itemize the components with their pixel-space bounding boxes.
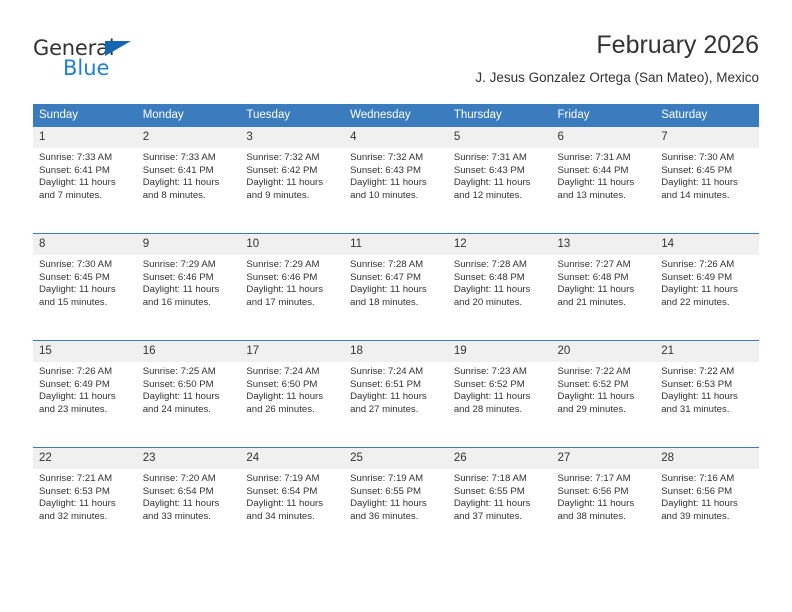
sunset-time: Sunset: 6:46 PM xyxy=(143,272,236,285)
sunset-time: Sunset: 6:56 PM xyxy=(661,486,754,499)
day-details: Sunrise: 7:20 AMSunset: 6:54 PMDaylight:… xyxy=(137,469,241,523)
calendar-day-cell[interactable]: 26Sunrise: 7:18 AMSunset: 6:55 PMDayligh… xyxy=(448,448,552,555)
calendar-day-cell[interactable]: 11Sunrise: 7:28 AMSunset: 6:47 PMDayligh… xyxy=(344,234,448,341)
calendar-day-cell[interactable]: 14Sunrise: 7:26 AMSunset: 6:49 PMDayligh… xyxy=(655,234,759,341)
daylight-duration: Daylight: 11 hours and 15 minutes. xyxy=(39,284,132,309)
day-details: Sunrise: 7:26 AMSunset: 6:49 PMDaylight:… xyxy=(33,362,137,416)
logo-triangle-icon xyxy=(105,41,131,56)
day-number: 25 xyxy=(344,448,448,469)
day-number: 8 xyxy=(33,234,137,255)
day-number: 22 xyxy=(33,448,137,469)
day-details: Sunrise: 7:19 AMSunset: 6:54 PMDaylight:… xyxy=(240,469,344,523)
sunset-time: Sunset: 6:53 PM xyxy=(39,486,132,499)
day-number: 14 xyxy=(655,234,759,255)
sunrise-time: Sunrise: 7:16 AM xyxy=(661,473,754,486)
calendar-day-cell[interactable]: 8Sunrise: 7:30 AMSunset: 6:45 PMDaylight… xyxy=(33,234,137,341)
sunset-time: Sunset: 6:47 PM xyxy=(350,272,443,285)
day-details: Sunrise: 7:17 AMSunset: 6:56 PMDaylight:… xyxy=(552,469,656,523)
sunset-time: Sunset: 6:51 PM xyxy=(350,379,443,392)
sunset-time: Sunset: 6:45 PM xyxy=(661,165,754,178)
logo-text-blue: Blue xyxy=(63,56,109,80)
calendar-day-cell[interactable]: 21Sunrise: 7:22 AMSunset: 6:53 PMDayligh… xyxy=(655,341,759,448)
sunset-time: Sunset: 6:48 PM xyxy=(454,272,547,285)
daylight-duration: Daylight: 11 hours and 27 minutes. xyxy=(350,391,443,416)
sunset-time: Sunset: 6:52 PM xyxy=(558,379,651,392)
daylight-duration: Daylight: 11 hours and 9 minutes. xyxy=(246,177,339,202)
daylight-duration: Daylight: 11 hours and 29 minutes. xyxy=(558,391,651,416)
daylight-duration: Daylight: 11 hours and 24 minutes. xyxy=(143,391,236,416)
day-details: Sunrise: 7:16 AMSunset: 6:56 PMDaylight:… xyxy=(655,469,759,523)
sunrise-time: Sunrise: 7:20 AM xyxy=(143,473,236,486)
calendar-day-cell[interactable]: 16Sunrise: 7:25 AMSunset: 6:50 PMDayligh… xyxy=(137,341,241,448)
day-number: 28 xyxy=(655,448,759,469)
day-number: 24 xyxy=(240,448,344,469)
calendar-day-cell[interactable]: 25Sunrise: 7:19 AMSunset: 6:55 PMDayligh… xyxy=(344,448,448,555)
calendar-week-row: 8Sunrise: 7:30 AMSunset: 6:45 PMDaylight… xyxy=(33,234,759,341)
day-number: 16 xyxy=(137,341,241,362)
day-details: Sunrise: 7:26 AMSunset: 6:49 PMDaylight:… xyxy=(655,255,759,309)
weekday-header-row: Sunday Monday Tuesday Wednesday Thursday… xyxy=(33,104,759,127)
day-details: Sunrise: 7:22 AMSunset: 6:53 PMDaylight:… xyxy=(655,362,759,416)
weekday-header-friday: Friday xyxy=(552,104,656,127)
page-subtitle: J. Jesus Gonzalez Ortega (San Mateo), Me… xyxy=(475,68,759,88)
day-number: 9 xyxy=(137,234,241,255)
day-number: 23 xyxy=(137,448,241,469)
sunset-time: Sunset: 6:44 PM xyxy=(558,165,651,178)
day-details: Sunrise: 7:18 AMSunset: 6:55 PMDaylight:… xyxy=(448,469,552,523)
calendar-body: 1Sunrise: 7:33 AMSunset: 6:41 PMDaylight… xyxy=(33,127,759,555)
sunrise-time: Sunrise: 7:26 AM xyxy=(39,366,132,379)
sunset-time: Sunset: 6:42 PM xyxy=(246,165,339,178)
sunset-time: Sunset: 6:50 PM xyxy=(246,379,339,392)
sunrise-time: Sunrise: 7:31 AM xyxy=(454,152,547,165)
daylight-duration: Daylight: 11 hours and 23 minutes. xyxy=(39,391,132,416)
daylight-duration: Daylight: 11 hours and 39 minutes. xyxy=(661,498,754,523)
calendar-day-cell[interactable]: 9Sunrise: 7:29 AMSunset: 6:46 PMDaylight… xyxy=(137,234,241,341)
day-details: Sunrise: 7:30 AMSunset: 6:45 PMDaylight:… xyxy=(33,255,137,309)
daylight-duration: Daylight: 11 hours and 17 minutes. xyxy=(246,284,339,309)
sunrise-time: Sunrise: 7:24 AM xyxy=(246,366,339,379)
daylight-duration: Daylight: 11 hours and 32 minutes. xyxy=(39,498,132,523)
daylight-duration: Daylight: 11 hours and 21 minutes. xyxy=(558,284,651,309)
sunrise-time: Sunrise: 7:28 AM xyxy=(454,259,547,272)
sunset-time: Sunset: 6:54 PM xyxy=(246,486,339,499)
daylight-duration: Daylight: 11 hours and 38 minutes. xyxy=(558,498,651,523)
day-details: Sunrise: 7:29 AMSunset: 6:46 PMDaylight:… xyxy=(240,255,344,309)
daylight-duration: Daylight: 11 hours and 13 minutes. xyxy=(558,177,651,202)
sunrise-sunset-calendar: Sunday Monday Tuesday Wednesday Thursday… xyxy=(33,104,759,554)
calendar-day-cell[interactable]: 7Sunrise: 7:30 AMSunset: 6:45 PMDaylight… xyxy=(655,127,759,234)
calendar-day-cell[interactable]: 6Sunrise: 7:31 AMSunset: 6:44 PMDaylight… xyxy=(552,127,656,234)
sunset-time: Sunset: 6:43 PM xyxy=(454,165,547,178)
day-details: Sunrise: 7:32 AMSunset: 6:43 PMDaylight:… xyxy=(344,148,448,202)
day-number: 15 xyxy=(33,341,137,362)
calendar-week-row: 15Sunrise: 7:26 AMSunset: 6:49 PMDayligh… xyxy=(33,341,759,448)
day-details: Sunrise: 7:24 AMSunset: 6:50 PMDaylight:… xyxy=(240,362,344,416)
calendar-day-cell[interactable]: 18Sunrise: 7:24 AMSunset: 6:51 PMDayligh… xyxy=(344,341,448,448)
calendar-day-cell[interactable]: 27Sunrise: 7:17 AMSunset: 6:56 PMDayligh… xyxy=(552,448,656,555)
day-details: Sunrise: 7:22 AMSunset: 6:52 PMDaylight:… xyxy=(552,362,656,416)
calendar-page: General Blue February 2026 J. Jesus Gonz… xyxy=(0,0,792,612)
calendar-day-cell[interactable]: 20Sunrise: 7:22 AMSunset: 6:52 PMDayligh… xyxy=(552,341,656,448)
sunset-time: Sunset: 6:41 PM xyxy=(39,165,132,178)
day-details: Sunrise: 7:25 AMSunset: 6:50 PMDaylight:… xyxy=(137,362,241,416)
sunset-time: Sunset: 6:45 PM xyxy=(39,272,132,285)
daylight-duration: Daylight: 11 hours and 28 minutes. xyxy=(454,391,547,416)
calendar-day-cell[interactable]: 24Sunrise: 7:19 AMSunset: 6:54 PMDayligh… xyxy=(240,448,344,555)
sunrise-time: Sunrise: 7:23 AM xyxy=(454,366,547,379)
day-details: Sunrise: 7:23 AMSunset: 6:52 PMDaylight:… xyxy=(448,362,552,416)
daylight-duration: Daylight: 11 hours and 37 minutes. xyxy=(454,498,547,523)
sunrise-time: Sunrise: 7:33 AM xyxy=(143,152,236,165)
day-details: Sunrise: 7:33 AMSunset: 6:41 PMDaylight:… xyxy=(33,148,137,202)
calendar-week-row: 1Sunrise: 7:33 AMSunset: 6:41 PMDaylight… xyxy=(33,127,759,234)
sunrise-time: Sunrise: 7:28 AM xyxy=(350,259,443,272)
weekday-header-wednesday: Wednesday xyxy=(344,104,448,127)
sunrise-time: Sunrise: 7:33 AM xyxy=(39,152,132,165)
calendar-day-cell[interactable]: 17Sunrise: 7:24 AMSunset: 6:50 PMDayligh… xyxy=(240,341,344,448)
day-number: 7 xyxy=(655,127,759,148)
sunrise-time: Sunrise: 7:19 AM xyxy=(246,473,339,486)
sunset-time: Sunset: 6:56 PM xyxy=(558,486,651,499)
calendar-day-cell[interactable]: 3Sunrise: 7:32 AMSunset: 6:42 PMDaylight… xyxy=(240,127,344,234)
calendar-day-cell[interactable]: 22Sunrise: 7:21 AMSunset: 6:53 PMDayligh… xyxy=(33,448,137,555)
sunset-time: Sunset: 6:41 PM xyxy=(143,165,236,178)
sunrise-time: Sunrise: 7:27 AM xyxy=(558,259,651,272)
page-title: February 2026 xyxy=(475,30,759,60)
calendar-day-cell[interactable]: 19Sunrise: 7:23 AMSunset: 6:52 PMDayligh… xyxy=(448,341,552,448)
sunset-time: Sunset: 6:55 PM xyxy=(350,486,443,499)
sunrise-time: Sunrise: 7:30 AM xyxy=(661,152,754,165)
weekday-header-saturday: Saturday xyxy=(655,104,759,127)
daylight-duration: Daylight: 11 hours and 7 minutes. xyxy=(39,177,132,202)
daylight-duration: Daylight: 11 hours and 36 minutes. xyxy=(350,498,443,523)
calendar-day-cell[interactable]: 15Sunrise: 7:26 AMSunset: 6:49 PMDayligh… xyxy=(33,341,137,448)
day-number: 21 xyxy=(655,341,759,362)
day-number: 17 xyxy=(240,341,344,362)
calendar-day-cell[interactable]: 28Sunrise: 7:16 AMSunset: 6:56 PMDayligh… xyxy=(655,448,759,555)
day-details: Sunrise: 7:31 AMSunset: 6:44 PMDaylight:… xyxy=(552,148,656,202)
calendar-week-row: 22Sunrise: 7:21 AMSunset: 6:53 PMDayligh… xyxy=(33,448,759,555)
calendar-day-cell[interactable]: 2Sunrise: 7:33 AMSunset: 6:41 PMDaylight… xyxy=(137,127,241,234)
sunrise-time: Sunrise: 7:29 AM xyxy=(246,259,339,272)
daylight-duration: Daylight: 11 hours and 20 minutes. xyxy=(454,284,547,309)
calendar-day-cell[interactable]: 12Sunrise: 7:28 AMSunset: 6:48 PMDayligh… xyxy=(448,234,552,341)
day-number: 2 xyxy=(137,127,241,148)
day-number: 26 xyxy=(448,448,552,469)
sunset-time: Sunset: 6:46 PM xyxy=(246,272,339,285)
day-number: 20 xyxy=(552,341,656,362)
sunrise-time: Sunrise: 7:19 AM xyxy=(350,473,443,486)
sunrise-time: Sunrise: 7:22 AM xyxy=(558,366,651,379)
day-details: Sunrise: 7:21 AMSunset: 6:53 PMDaylight:… xyxy=(33,469,137,523)
day-number: 12 xyxy=(448,234,552,255)
sunrise-time: Sunrise: 7:17 AM xyxy=(558,473,651,486)
general-blue-logo[interactable]: General Blue xyxy=(33,36,163,88)
sunset-time: Sunset: 6:49 PM xyxy=(39,379,132,392)
daylight-duration: Daylight: 11 hours and 12 minutes. xyxy=(454,177,547,202)
sunset-time: Sunset: 6:54 PM xyxy=(143,486,236,499)
sunrise-time: Sunrise: 7:21 AM xyxy=(39,473,132,486)
sunrise-time: Sunrise: 7:30 AM xyxy=(39,259,132,272)
sunset-time: Sunset: 6:53 PM xyxy=(661,379,754,392)
calendar-day-cell[interactable]: 23Sunrise: 7:20 AMSunset: 6:54 PMDayligh… xyxy=(137,448,241,555)
calendar-head: Sunday Monday Tuesday Wednesday Thursday… xyxy=(33,104,759,127)
daylight-duration: Daylight: 11 hours and 34 minutes. xyxy=(246,498,339,523)
sunrise-time: Sunrise: 7:22 AM xyxy=(661,366,754,379)
sunrise-time: Sunrise: 7:31 AM xyxy=(558,152,651,165)
sunset-time: Sunset: 6:49 PM xyxy=(661,272,754,285)
day-details: Sunrise: 7:24 AMSunset: 6:51 PMDaylight:… xyxy=(344,362,448,416)
daylight-duration: Daylight: 11 hours and 22 minutes. xyxy=(661,284,754,309)
weekday-header-monday: Monday xyxy=(137,104,241,127)
page-header: General Blue February 2026 J. Jesus Gonz… xyxy=(33,30,759,100)
day-details: Sunrise: 7:31 AMSunset: 6:43 PMDaylight:… xyxy=(448,148,552,202)
weekday-header-sunday: Sunday xyxy=(33,104,137,127)
day-number: 19 xyxy=(448,341,552,362)
day-number: 5 xyxy=(448,127,552,148)
sunset-time: Sunset: 6:48 PM xyxy=(558,272,651,285)
daylight-duration: Daylight: 11 hours and 31 minutes. xyxy=(661,391,754,416)
daylight-duration: Daylight: 11 hours and 18 minutes. xyxy=(350,284,443,309)
daylight-duration: Daylight: 11 hours and 10 minutes. xyxy=(350,177,443,202)
day-number: 13 xyxy=(552,234,656,255)
sunrise-time: Sunrise: 7:26 AM xyxy=(661,259,754,272)
day-details: Sunrise: 7:19 AMSunset: 6:55 PMDaylight:… xyxy=(344,469,448,523)
day-details: Sunrise: 7:27 AMSunset: 6:48 PMDaylight:… xyxy=(552,255,656,309)
day-details: Sunrise: 7:28 AMSunset: 6:47 PMDaylight:… xyxy=(344,255,448,309)
day-details: Sunrise: 7:33 AMSunset: 6:41 PMDaylight:… xyxy=(137,148,241,202)
title-block: February 2026 J. Jesus Gonzalez Ortega (… xyxy=(475,30,759,88)
day-details: Sunrise: 7:30 AMSunset: 6:45 PMDaylight:… xyxy=(655,148,759,202)
calendar-day-cell[interactable]: 13Sunrise: 7:27 AMSunset: 6:48 PMDayligh… xyxy=(552,234,656,341)
day-number: 4 xyxy=(344,127,448,148)
sunrise-time: Sunrise: 7:18 AM xyxy=(454,473,547,486)
weekday-header-thursday: Thursday xyxy=(448,104,552,127)
calendar-day-cell[interactable]: 5Sunrise: 7:31 AMSunset: 6:43 PMDaylight… xyxy=(448,127,552,234)
day-details: Sunrise: 7:32 AMSunset: 6:42 PMDaylight:… xyxy=(240,148,344,202)
day-number: 6 xyxy=(552,127,656,148)
sunrise-time: Sunrise: 7:32 AM xyxy=(350,152,443,165)
daylight-duration: Daylight: 11 hours and 33 minutes. xyxy=(143,498,236,523)
sunrise-time: Sunrise: 7:32 AM xyxy=(246,152,339,165)
sunset-time: Sunset: 6:43 PM xyxy=(350,165,443,178)
daylight-duration: Daylight: 11 hours and 14 minutes. xyxy=(661,177,754,202)
day-details: Sunrise: 7:29 AMSunset: 6:46 PMDaylight:… xyxy=(137,255,241,309)
sunrise-time: Sunrise: 7:25 AM xyxy=(143,366,236,379)
day-number: 27 xyxy=(552,448,656,469)
day-details: Sunrise: 7:28 AMSunset: 6:48 PMDaylight:… xyxy=(448,255,552,309)
daylight-duration: Daylight: 11 hours and 16 minutes. xyxy=(143,284,236,309)
daylight-duration: Daylight: 11 hours and 26 minutes. xyxy=(246,391,339,416)
daylight-duration: Daylight: 11 hours and 8 minutes. xyxy=(143,177,236,202)
day-number: 10 xyxy=(240,234,344,255)
day-number: 11 xyxy=(344,234,448,255)
sunrise-time: Sunrise: 7:24 AM xyxy=(350,366,443,379)
calendar-day-cell[interactable]: 10Sunrise: 7:29 AMSunset: 6:46 PMDayligh… xyxy=(240,234,344,341)
sunrise-time: Sunrise: 7:29 AM xyxy=(143,259,236,272)
weekday-header-tuesday: Tuesday xyxy=(240,104,344,127)
sunset-time: Sunset: 6:55 PM xyxy=(454,486,547,499)
sunset-time: Sunset: 6:50 PM xyxy=(143,379,236,392)
calendar-day-cell[interactable]: 4Sunrise: 7:32 AMSunset: 6:43 PMDaylight… xyxy=(344,127,448,234)
day-number: 18 xyxy=(344,341,448,362)
calendar-day-cell[interactable]: 1Sunrise: 7:33 AMSunset: 6:41 PMDaylight… xyxy=(33,127,137,234)
day-number: 3 xyxy=(240,127,344,148)
day-number: 1 xyxy=(33,127,137,148)
sunset-time: Sunset: 6:52 PM xyxy=(454,379,547,392)
